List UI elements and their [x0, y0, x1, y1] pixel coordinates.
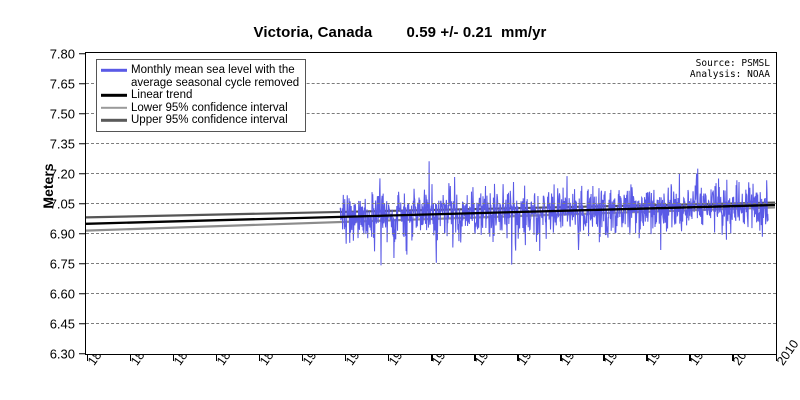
sea-level-chart: Victoria, Canada 0.59 +/- 0.21 mm/yr Met… — [0, 0, 800, 400]
y-axis-tick-label: 7.50 — [29, 106, 75, 121]
plot-area: Monthly mean sea level with the average … — [85, 52, 777, 355]
y-axis-tick-label: 6.30 — [29, 346, 75, 361]
y-axis-tick-label: 6.60 — [29, 286, 75, 301]
x-axis-tick-label: 2010 — [774, 337, 800, 368]
gridline — [86, 203, 776, 204]
y-axis-tick-label: 7.80 — [29, 46, 75, 61]
y-axis-tick-label: 6.45 — [29, 316, 75, 331]
gridline — [86, 293, 776, 294]
y-axis-tick-label: 7.05 — [29, 196, 75, 211]
legend-label-monthly-mean: Monthly mean sea level with the average … — [131, 64, 299, 89]
source-attribution: Source: PSMSL Analysis: NOAA — [690, 58, 770, 80]
gridline — [86, 233, 776, 234]
legend-swatch-upper-ci — [101, 114, 127, 127]
legend-item-upper-ci: Upper 95% confidence interval — [101, 114, 299, 127]
gridline — [86, 263, 776, 264]
gridline — [86, 173, 776, 174]
source-line: Source: PSMSL — [690, 58, 770, 69]
y-axis-tick-label: 7.35 — [29, 136, 75, 151]
plot-inner: Monthly mean sea level with the average … — [86, 53, 776, 354]
y-axis-tick-label: 7.20 — [29, 166, 75, 181]
legend-swatch-monthly-mean — [101, 64, 127, 77]
gridline — [86, 323, 776, 324]
legend-label-upper-ci: Upper 95% confidence interval — [131, 114, 288, 127]
legend-item-lower-ci: Lower 95% confidence interval — [101, 102, 299, 115]
y-axis-tick-label: 6.90 — [29, 226, 75, 241]
gridline — [86, 143, 776, 144]
y-axis-tick-label: 7.65 — [29, 76, 75, 91]
y-axis-tick-label: 6.75 — [29, 256, 75, 271]
legend-swatch-linear-trend — [101, 89, 127, 102]
chart-title: Victoria, Canada 0.59 +/- 0.21 mm/yr — [0, 24, 800, 41]
analysis-line: Analysis: NOAA — [690, 69, 770, 80]
legend: Monthly mean sea level with the average … — [96, 59, 306, 132]
legend-label-lower-ci: Lower 95% confidence interval — [131, 102, 288, 115]
monthly-sea-level-line — [340, 161, 768, 265]
legend-item-monthly-mean: Monthly mean sea level with the average … — [101, 64, 299, 89]
legend-item-linear-trend: Linear trend — [101, 89, 299, 102]
legend-label-linear-trend: Linear trend — [131, 89, 192, 102]
legend-swatch-lower-ci — [101, 102, 127, 115]
